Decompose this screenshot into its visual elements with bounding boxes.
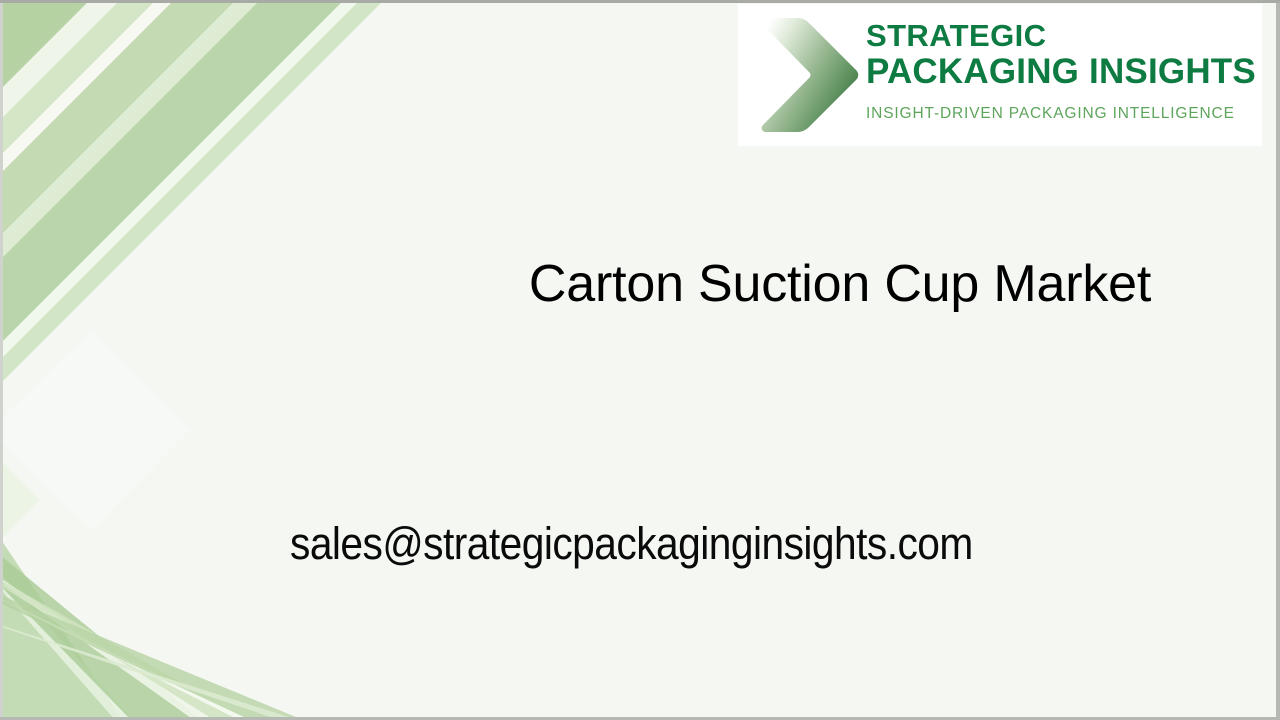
chevron-stripe-decoration [0, 0, 430, 720]
page-title: Carton Suction Cup Market [420, 258, 1260, 310]
contact-email-text[interactable]: sales@strategicpackaginginsights.com [290, 521, 1105, 566]
chevron-arrow-icon [752, 12, 872, 138]
contact-email[interactable]: sales@strategicpackaginginsights.com [290, 521, 1190, 566]
logo-wordmark: STRATEGIC PACKAGING INSIGHTS INSIGHT-DRI… [866, 20, 1258, 123]
logo-line-strategic: STRATEGIC [866, 20, 1258, 51]
company-logo: STRATEGIC PACKAGING INSIGHTS INSIGHT-DRI… [738, 4, 1262, 146]
title-slide: STRATEGIC PACKAGING INSIGHTS INSIGHT-DRI… [0, 0, 1280, 720]
logo-line-packaging-insights: PACKAGING INSIGHTS [866, 54, 1258, 89]
logo-tagline: INSIGHT-DRIVEN PACKAGING INTELLIGENCE [866, 105, 1258, 123]
page-title-text: Carton Suction Cup Market [420, 258, 1260, 310]
